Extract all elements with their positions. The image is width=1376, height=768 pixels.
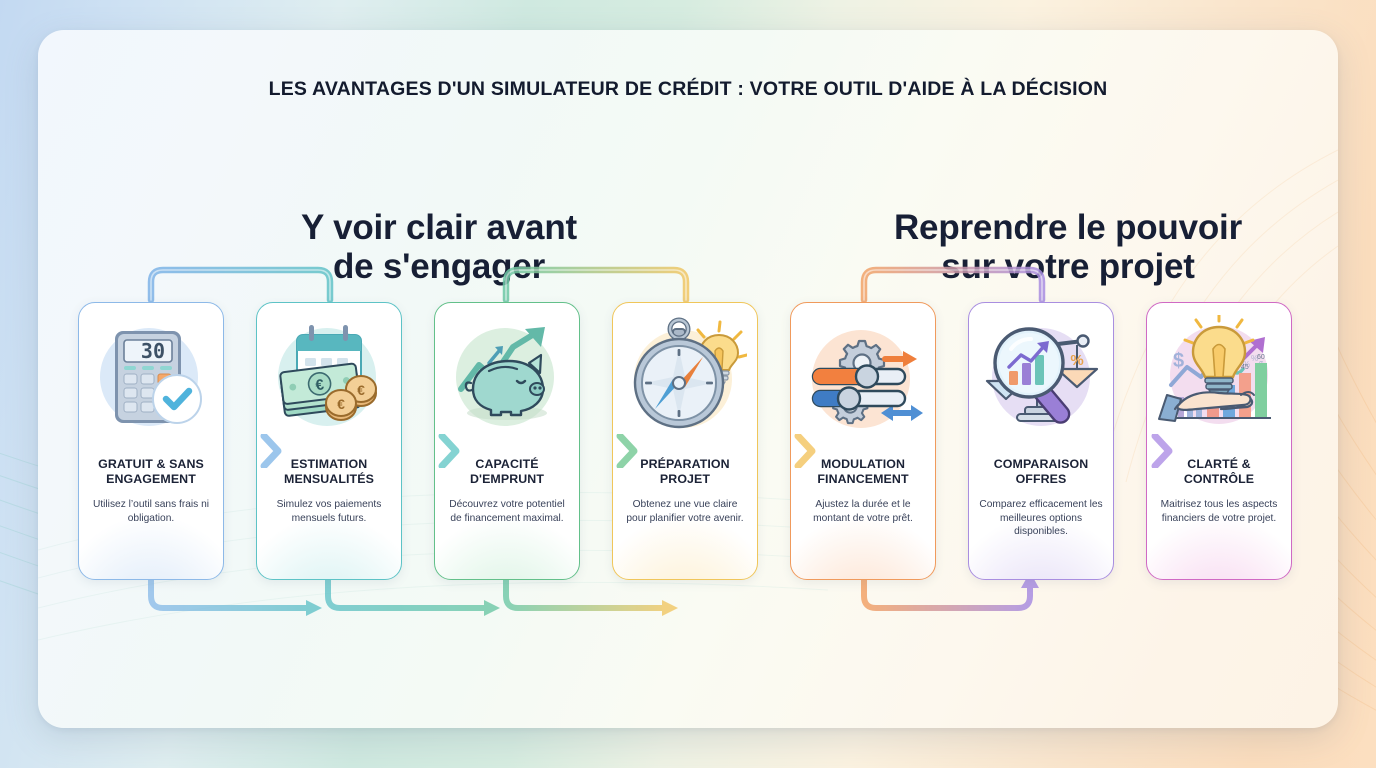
benefit-card-2-title: ESTIMATION MENSUALITÉS xyxy=(262,457,396,487)
piggy-bank-growth-arrow-icon xyxy=(434,303,580,455)
benefit-card-5[interactable]: MODULATION FINANCEMENT Ajustez la durée … xyxy=(790,302,936,580)
svg-text:€: € xyxy=(337,396,345,412)
benefit-card-7-title-line1: CLARTÉ & xyxy=(1152,457,1286,472)
section-heading-right: Reprendre le pouvoir sur votre projet xyxy=(838,208,1298,286)
benefit-card-3[interactable]: CAPACITÉ D'EMPRUNT Découvrez votre poten… xyxy=(434,302,580,580)
benefit-card-1-description: Utilisez l’outil sans frais ni obligatio… xyxy=(88,498,214,525)
benefit-card-1-title-line1: GRATUIT & SANS xyxy=(84,457,218,472)
benefit-card-2-title-line1: ESTIMATION xyxy=(262,457,396,472)
calendar-banknotes-coins-icon: € € € xyxy=(256,303,402,455)
benefit-card-2-description: Simulez vos paiements mensuels futurs. xyxy=(266,498,392,525)
benefit-card-4-title-line1: PRÉPARATION xyxy=(618,457,752,472)
page-title: LES AVANTAGES D'UN SIMULATEUR DE CRÉDIT … xyxy=(38,78,1338,101)
benefit-card-7-description: Maitrisez tous les aspects financiers de… xyxy=(1156,498,1282,525)
benefit-card-4-title: PRÉPARATION PROJET xyxy=(618,457,752,487)
benefit-card-3-title-line2: D'EMPRUNT xyxy=(440,472,574,487)
slider-orange xyxy=(813,366,905,388)
svg-text:€: € xyxy=(357,382,365,398)
calculator-check-icon: 30 xyxy=(78,303,224,455)
benefit-card-5-title-line1: MODULATION xyxy=(796,457,930,472)
benefit-card-7-title-line2: CONTRÔLE xyxy=(1152,472,1286,487)
benefit-card-6-title: COMPARAISON OFFRES xyxy=(974,457,1108,487)
hand-lightbulb-chart-icon: $ %%$ xyxy=(1146,303,1292,455)
benefit-card-3-title-line1: CAPACITÉ xyxy=(440,457,574,472)
benefit-card-2[interactable]: € € € xyxy=(256,302,402,580)
section-heading-left-line2: de s'engager xyxy=(213,247,665,286)
svg-text:60: 60 xyxy=(1257,354,1265,361)
benefit-card-7[interactable]: $ %%$ xyxy=(1146,302,1292,580)
main-panel: LES AVANTAGES D'UN SIMULATEUR DE CRÉDIT … xyxy=(38,30,1338,728)
benefit-card-5-title-line2: FINANCEMENT xyxy=(796,472,930,487)
svg-text:$: $ xyxy=(1173,350,1184,372)
bottom-connector-1 xyxy=(151,580,322,616)
benefit-card-2-title-line2: MENSUALITÉS xyxy=(262,472,396,487)
benefit-card-3-description: Découvrez votre potentiel de financement… xyxy=(444,498,570,525)
gears-sliders-icon xyxy=(790,303,936,455)
benefit-card-4-description: Obtenez une vue claire pour planifier vo… xyxy=(622,498,748,525)
section-heading-left-line1: Y voir clair avant xyxy=(213,208,665,247)
infographic-canvas: LES AVANTAGES D'UN SIMULATEUR DE CRÉDIT … xyxy=(0,0,1376,768)
section-heading-left: Y voir clair avant de s'engager xyxy=(213,208,665,286)
benefit-card-1-title-line2: ENGAGEMENT xyxy=(84,472,218,487)
slider-blue xyxy=(813,388,905,410)
benefit-card-1[interactable]: 30 xyxy=(78,302,224,580)
section-heading-right-line2: sur votre projet xyxy=(838,247,1298,286)
benefit-cards-row: 30 xyxy=(78,302,1310,580)
bottom-connector-2 xyxy=(328,580,500,616)
svg-text:30: 30 xyxy=(141,339,165,363)
benefit-card-4[interactable]: PRÉPARATION PROJET Obtenez une vue clair… xyxy=(612,302,758,580)
section-heading-right-line1: Reprendre le pouvoir xyxy=(838,208,1298,247)
benefit-card-1-title: GRATUIT & SANS ENGAGEMENT xyxy=(84,457,218,487)
svg-text:%: % xyxy=(1070,352,1083,369)
benefit-card-6[interactable]: % % xyxy=(968,302,1114,580)
benefit-card-6-title-line1: COMPARAISON xyxy=(974,457,1108,472)
compass-lightbulb-icon xyxy=(612,303,758,455)
bottom-connector-3 xyxy=(506,580,678,616)
benefit-card-7-title: CLARTÉ & CONTRÔLE xyxy=(1152,457,1286,487)
magnifier-scales-percent-icon: % % xyxy=(968,303,1114,455)
benefit-card-6-description: Comparez efficacement les meilleures opt… xyxy=(978,498,1104,539)
benefit-card-5-title: MODULATION FINANCEMENT xyxy=(796,457,930,487)
benefit-card-4-title-line2: PROJET xyxy=(618,472,752,487)
benefit-card-6-title-line2: OFFRES xyxy=(974,472,1108,487)
svg-text:45: 45 xyxy=(1241,364,1249,371)
benefit-card-5-description: Ajustez la durée et le montant de votre … xyxy=(800,498,926,525)
benefit-card-3-title: CAPACITÉ D'EMPRUNT xyxy=(440,457,574,487)
